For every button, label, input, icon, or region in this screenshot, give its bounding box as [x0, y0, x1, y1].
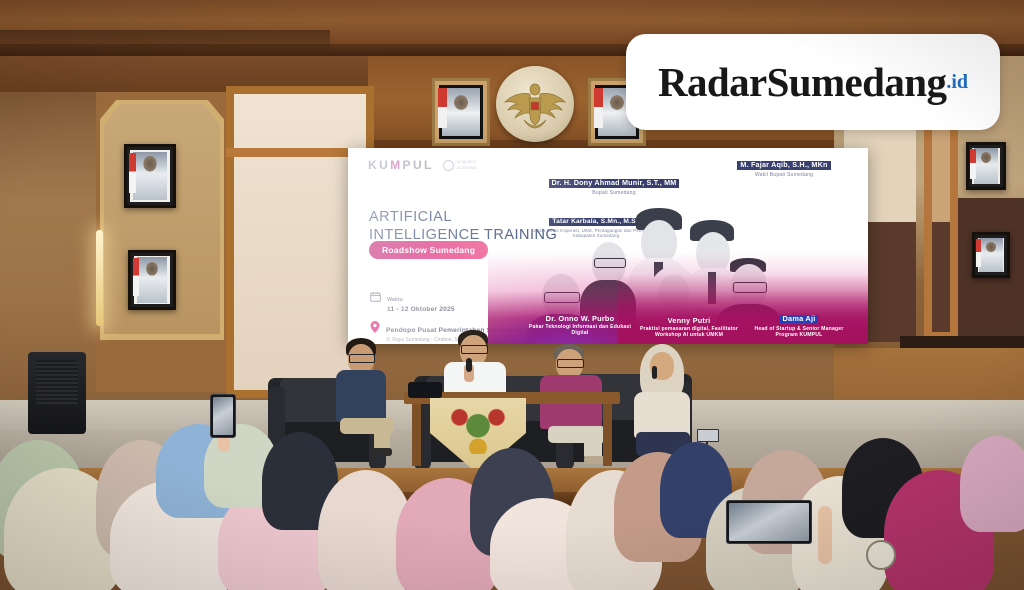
- photo-scene: KUMPUL kr.ignition indonesia ARTIFICIAL …: [0, 0, 1024, 590]
- pa-speaker: [28, 352, 86, 434]
- wall-sconce-light: [96, 230, 103, 326]
- projection-screen: KUMPUL kr.ignition indonesia ARTIFICIAL …: [348, 148, 868, 344]
- right-wall-portrait-upper: [966, 142, 1006, 190]
- panelist-microphone: [652, 366, 657, 379]
- recording-phone: [697, 429, 719, 442]
- camera-bag: [408, 382, 442, 398]
- watermark-logo: RadarSumedang.id: [626, 34, 1000, 130]
- audience-arm: [818, 506, 832, 564]
- right-wall-pilaster-inset-dark: [932, 222, 950, 332]
- screen-glare: [348, 148, 868, 344]
- audience-phone-left[interactable]: [210, 394, 236, 438]
- panelist-left: [334, 338, 396, 450]
- garuda-pancasila-emblem: [496, 66, 574, 142]
- audience-member: [960, 436, 1024, 532]
- wall-portrait-lower: [128, 250, 176, 310]
- watermark-suffix: .id: [946, 71, 968, 94]
- audience-phone-right[interactable]: [726, 500, 812, 544]
- organization-badge: [866, 540, 896, 570]
- right-wall-portrait-lower: [972, 232, 1010, 278]
- watermark-brand: RadarSumedang: [658, 58, 946, 106]
- president-portrait-frame: [432, 78, 490, 146]
- microphone: [466, 358, 472, 372]
- wall-portrait-upper: [124, 144, 176, 208]
